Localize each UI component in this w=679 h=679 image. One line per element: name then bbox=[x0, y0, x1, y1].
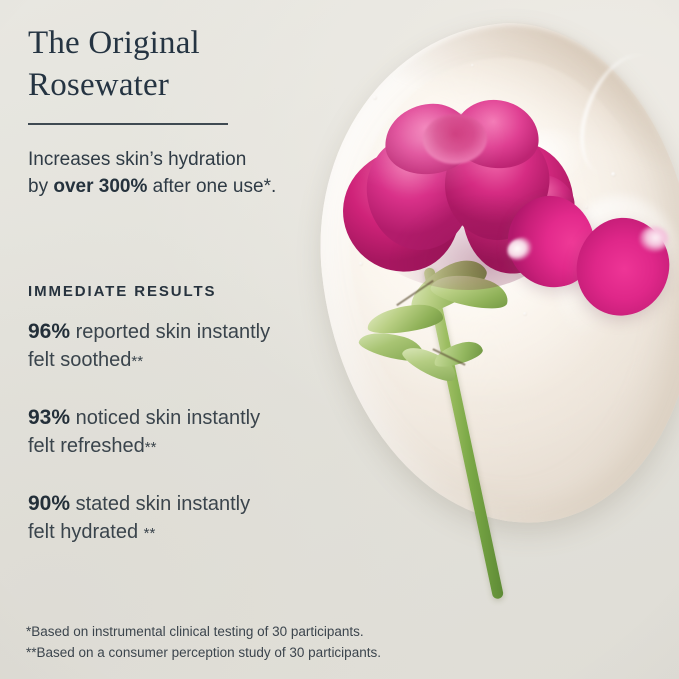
results-stat-list: 96% reported skin instantly felt soothed… bbox=[28, 318, 358, 576]
page-title: The Original Rosewater bbox=[28, 22, 200, 106]
stat-item: 93% noticed skin instantly felt refreshe… bbox=[28, 404, 358, 462]
stat-number: 90% bbox=[28, 492, 70, 515]
stat-number: 93% bbox=[28, 406, 70, 429]
stat-number: 96% bbox=[28, 320, 70, 343]
stat-item: 96% reported skin instantly felt soothed… bbox=[28, 318, 358, 376]
stat-footnote-marker: ** bbox=[144, 525, 156, 542]
footnote-double-asterisk: **Based on a consumer perception study o… bbox=[26, 642, 381, 663]
stat-item: 90% stated skin instantly felt hydrated … bbox=[28, 490, 358, 548]
subheadline: Increases skin’s hydration by over 300% … bbox=[28, 146, 348, 200]
footnotes: *Based on instrumental clinical testing … bbox=[26, 621, 381, 663]
results-eyebrow-label: IMMEDIATE RESULTS bbox=[28, 283, 216, 300]
rosewater-marketing-graphic: The Original Rosewater Increases skin’s … bbox=[0, 0, 679, 679]
title-divider bbox=[28, 123, 228, 125]
stat-footnote-marker: ** bbox=[131, 353, 143, 370]
subhead-tail: after one use*. bbox=[147, 176, 276, 197]
subhead-emphasis: over 300% bbox=[53, 176, 147, 197]
footnote-single-asterisk: *Based on instrumental clinical testing … bbox=[26, 621, 381, 642]
stat-footnote-marker: ** bbox=[145, 439, 157, 456]
